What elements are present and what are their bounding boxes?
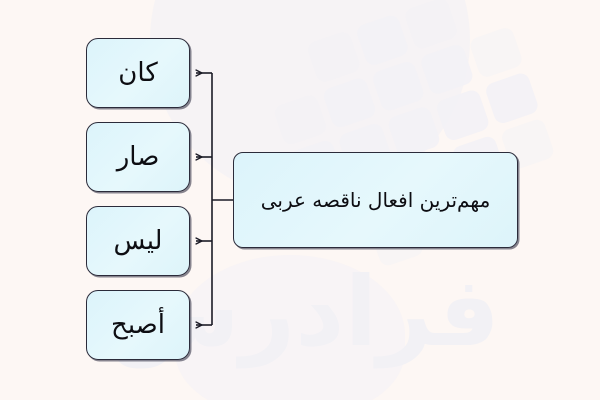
node-kana-label: کان — [108, 58, 167, 88]
node-kana[interactable]: کان — [86, 38, 190, 108]
diagram-canvas: فرادرس کان صار لیس أصبح مهم — [0, 0, 600, 400]
node-root-label: مهم‌ترین افعال ناقصه عربی — [251, 188, 501, 212]
node-laysa[interactable]: لیس — [86, 206, 190, 276]
node-sara[interactable]: صار — [86, 122, 190, 192]
node-root[interactable]: مهم‌ترین افعال ناقصه عربی — [233, 152, 518, 248]
background-blob-bottom — [175, 255, 405, 400]
node-sara-label: صار — [107, 142, 170, 172]
watermark-text: فرادرس — [170, 252, 500, 372]
node-laysa-label: لیس — [104, 226, 173, 256]
node-asbaha-label: أصبح — [101, 310, 175, 340]
node-asbaha[interactable]: أصبح — [86, 290, 190, 360]
